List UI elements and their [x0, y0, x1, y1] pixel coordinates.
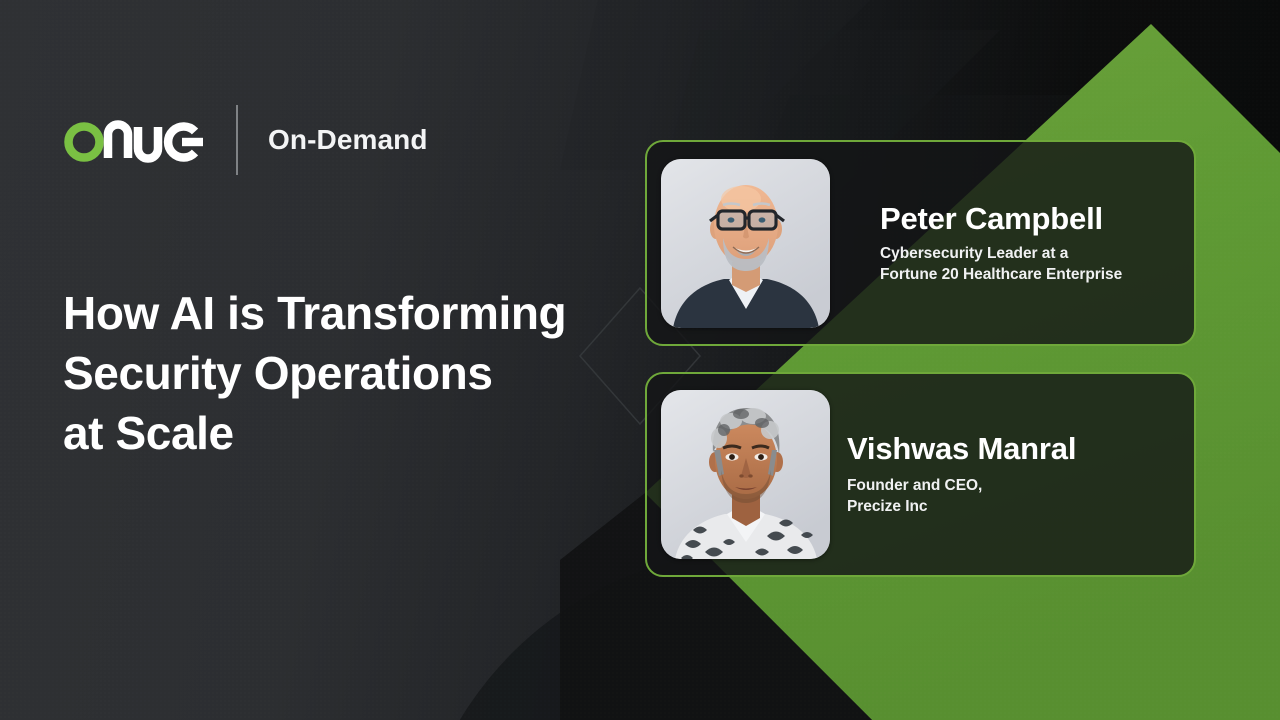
webinar-promo-slide: On-Demand How AI is Transforming Securit…	[0, 0, 1280, 720]
brand-label: On-Demand	[268, 124, 428, 156]
avatar	[661, 390, 830, 559]
speaker-title-line-1: Founder and CEO,	[847, 475, 1076, 496]
speaker-title: Cybersecurity Leader at a Fortune 20 Hea…	[880, 243, 1122, 285]
speaker-headshot-vishwas-manral-icon	[661, 390, 830, 559]
speaker-title-line-2: Precize Inc	[847, 496, 1076, 517]
avatar	[661, 159, 830, 328]
speaker-title-line-2: Fortune 20 Healthcare Enterprise	[880, 264, 1122, 285]
page-title-line-2: Security Operations	[63, 343, 663, 403]
page-title: How AI is Transforming Security Operatio…	[63, 283, 663, 463]
onug-logo-icon	[64, 115, 204, 165]
brand-divider	[236, 105, 238, 175]
speaker-name: Vishwas Manral	[847, 432, 1076, 466]
logo-n-glyph	[108, 125, 128, 159]
speaker-card-peter-campbell[interactable]: Peter Campbell Cybersecurity Leader at a…	[645, 140, 1196, 346]
brand-lockup: On-Demand	[64, 104, 428, 176]
page-title-line-3: at Scale	[63, 403, 663, 463]
page-title-line-1: How AI is Transforming	[63, 283, 663, 343]
speaker-name: Peter Campbell	[880, 202, 1122, 236]
speaker-card-vishwas-manral[interactable]: Vishwas Manral Founder and CEO, Precize …	[645, 372, 1196, 577]
speaker-title-line-1: Cybersecurity Leader at a	[880, 243, 1122, 264]
speaker-title: Founder and CEO, Precize Inc	[847, 475, 1076, 517]
speaker-meta: Vishwas Manral Founder and CEO, Precize …	[830, 432, 1090, 517]
logo-u-glyph	[138, 127, 158, 159]
speaker-meta: Peter Campbell Cybersecurity Leader at a…	[830, 202, 1136, 285]
logo-g-bar-icon	[182, 138, 203, 146]
logo-o-ring-icon	[69, 127, 100, 158]
speaker-headshot-peter-campbell-icon	[661, 159, 830, 328]
